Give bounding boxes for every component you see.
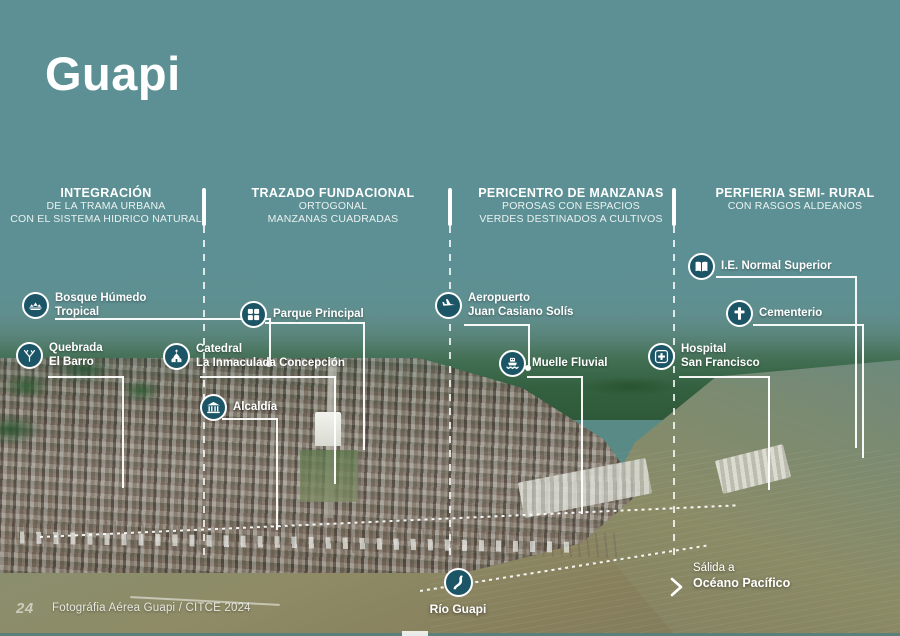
main-plaza bbox=[300, 450, 358, 502]
marker-label: Alcaldía bbox=[233, 401, 277, 415]
park-icon bbox=[240, 301, 267, 328]
church-icon bbox=[163, 343, 190, 370]
marker-cementerio[interactable]: Cementerio bbox=[726, 300, 822, 327]
column-subtitle-1: DE LA TRAMA URBANA bbox=[8, 200, 204, 213]
cross-icon bbox=[726, 300, 753, 327]
chevron-right-icon bbox=[668, 575, 686, 604]
salida-line-1: Sálida a bbox=[693, 561, 790, 576]
column-subtitle-1: POROSAS CON ESPACIOS bbox=[460, 200, 682, 213]
page-title: Guapi bbox=[45, 46, 181, 102]
marker-label: Catedral La Inmaculada Concepción bbox=[196, 343, 345, 370]
bottom-tab-indicator bbox=[402, 631, 428, 636]
column-divider-3 bbox=[672, 188, 676, 556]
column-divider-2 bbox=[448, 188, 452, 556]
marker-catedral[interactable]: Catedral La Inmaculada Concepción bbox=[163, 343, 345, 370]
column-title: PERFIERIA SEMI- RURAL bbox=[690, 186, 900, 200]
marker-rio-guapi[interactable]: Río Guapi bbox=[418, 568, 498, 618]
airplane-icon bbox=[435, 292, 462, 319]
salida-oceano-pacifico: Sálida a Océano Pacífico bbox=[693, 561, 790, 591]
column-header-pericentro: PERICENTRO DE MANZANAS POROSAS CON ESPAC… bbox=[460, 186, 682, 226]
column-subtitle-2: VERDES DESTINADOS A CULTIVOS bbox=[460, 213, 682, 226]
marker-label: I.E. Normal Superior bbox=[721, 260, 832, 274]
column-header-trazado: TRAZADO FUNDACIONAL ORTOGONAL MANZANAS C… bbox=[214, 186, 452, 226]
cityhall-icon bbox=[200, 394, 227, 421]
river-icon bbox=[444, 568, 473, 597]
forest-icon bbox=[22, 292, 49, 319]
page-number: 24 bbox=[16, 600, 34, 617]
infographic-page: Guapi INTEGRACIÓN DE LA TRAMA URBANA CON… bbox=[0, 0, 900, 636]
marker-label: Parque Principal bbox=[273, 308, 364, 322]
column-divider-1 bbox=[202, 188, 206, 556]
marker-parque-principal[interactable]: Parque Principal bbox=[240, 301, 364, 328]
water-texture bbox=[430, 450, 900, 636]
marker-ie-normal-superior[interactable]: I.E. Normal Superior bbox=[688, 253, 832, 280]
salida-line-2: Océano Pacífico bbox=[693, 576, 790, 591]
marker-aeropuerto[interactable]: Aeropuerto Juan Casiano Solís bbox=[435, 292, 573, 319]
column-header-periferia: PERFIERIA SEMI- RURAL CON RASGOS ALDEANO… bbox=[690, 186, 900, 213]
marker-label: Quebrada El Barro bbox=[49, 342, 103, 369]
marker-label: Hospital San Francisco bbox=[681, 343, 760, 370]
hospital-icon bbox=[648, 343, 675, 370]
marker-hospital[interactable]: Hospital San Francisco bbox=[648, 343, 760, 370]
photo-credit: Fotográfia Aérea Guapi / CITCE 2024 bbox=[52, 602, 251, 614]
marker-label: Bosque Húmedo Tropical bbox=[55, 292, 146, 319]
stream-icon bbox=[16, 342, 43, 369]
marker-label: Cementerio bbox=[759, 307, 822, 321]
ship-icon bbox=[499, 350, 526, 377]
column-title: PERICENTRO DE MANZANAS bbox=[460, 186, 682, 200]
column-subtitle-1: ORTOGONAL bbox=[214, 200, 452, 213]
marker-label: Aeropuerto Juan Casiano Solís bbox=[468, 292, 573, 319]
column-subtitle-2: MANZANAS CUADRADAS bbox=[214, 213, 452, 226]
marker-bosque-humedo-tropical[interactable]: Bosque Húmedo Tropical bbox=[22, 292, 146, 319]
marker-alcaldia[interactable]: Alcaldía bbox=[200, 394, 277, 421]
marker-quebrada-el-barro[interactable]: Quebrada El Barro bbox=[16, 342, 103, 369]
column-subtitle-2: CON EL SISTEMA HIDRICO NATURAL bbox=[8, 213, 204, 226]
column-subtitle-1: CON RASGOS ALDEANOS bbox=[690, 200, 900, 213]
book-icon bbox=[688, 253, 715, 280]
column-title: TRAZADO FUNDACIONAL bbox=[214, 186, 452, 200]
column-title: INTEGRACIÓN bbox=[8, 186, 204, 200]
marker-label: Muelle Fluvial bbox=[532, 357, 607, 371]
river-label: Río Guapi bbox=[430, 602, 487, 616]
cathedral-building bbox=[315, 412, 341, 446]
marker-muelle-fluvial[interactable]: Muelle Fluvial bbox=[499, 350, 607, 377]
column-header-integracion: INTEGRACIÓN DE LA TRAMA URBANA CON EL SI… bbox=[8, 186, 204, 226]
